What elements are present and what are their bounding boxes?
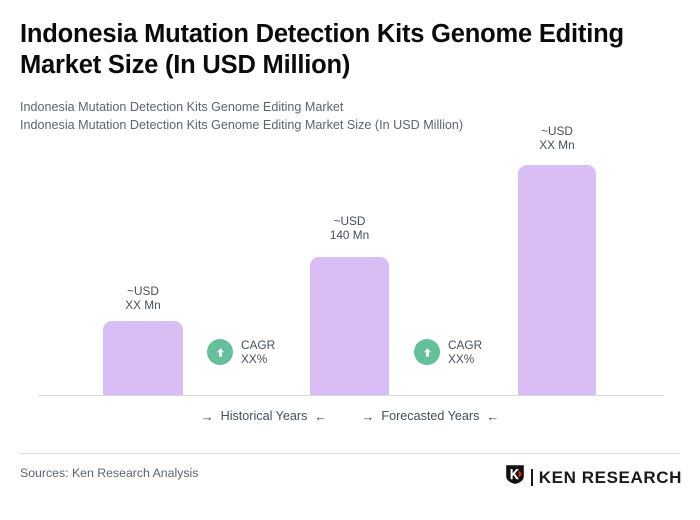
arrow-left-icon: ← <box>486 410 499 423</box>
bar-value-label-forecast: ~USD XX Mn <box>518 124 596 152</box>
logo-divider <box>531 469 533 486</box>
bar-value-amount-historical: XX Mn <box>103 298 183 312</box>
legend-historical-years: → Historical Years ← <box>201 409 328 423</box>
chart-plot-area: ~USD XX Mn CAGR XX% ~USD 140 Mn <box>0 0 700 440</box>
arrow-up-icon <box>414 339 440 365</box>
cagr-label-historical: CAGR <box>241 338 275 352</box>
bar-value-currency-forecast: ~USD <box>541 124 573 138</box>
legend-forecasted-years: → Forecasted Years ← <box>361 409 499 423</box>
cagr-text-historical: CAGR XX% <box>241 338 275 366</box>
bar-value-label-historical: ~USD XX Mn <box>103 284 183 312</box>
axis-baseline <box>38 395 664 396</box>
bar-base[interactable] <box>310 257 389 396</box>
arrow-up-icon <box>207 339 233 365</box>
cagr-annotation-historical: CAGR XX% <box>207 338 275 366</box>
logo-wordmark: KEN RESEARCH <box>539 469 682 486</box>
arrow-right-icon: → <box>361 410 374 423</box>
legend-forecasted-label: Forecasted Years <box>381 409 479 423</box>
bar-value-amount-forecast: XX Mn <box>518 138 596 152</box>
bar-historical[interactable] <box>103 321 183 396</box>
legend-historical-label: Historical Years <box>221 409 308 423</box>
chart-page: Indonesia Mutation Detection Kits Genome… <box>0 0 700 520</box>
bar-value-amount-base: 140 Mn <box>310 228 389 242</box>
arrow-left-icon: ← <box>314 410 327 423</box>
arrow-right-icon: → <box>201 410 214 423</box>
cagr-value-historical: XX% <box>241 352 275 366</box>
bar-value-currency-base: ~USD <box>334 214 366 228</box>
shield-icon <box>505 464 525 490</box>
ken-research-logo: KEN RESEARCH <box>505 464 682 490</box>
sources-text: Sources: Ken Research Analysis <box>20 466 198 480</box>
cagr-value-forecast: XX% <box>448 352 482 366</box>
cagr-annotation-forecast: CAGR XX% <box>414 338 482 366</box>
bar-value-label-base: ~USD 140 Mn <box>310 214 389 242</box>
footer-divider <box>20 453 680 454</box>
cagr-label-forecast: CAGR <box>448 338 482 352</box>
axis-period-legend: → Historical Years ← → Forecasted Years … <box>0 409 700 423</box>
bar-forecast[interactable] <box>518 165 596 396</box>
bar-value-currency-historical: ~USD <box>127 284 159 298</box>
cagr-text-forecast: CAGR XX% <box>448 338 482 366</box>
